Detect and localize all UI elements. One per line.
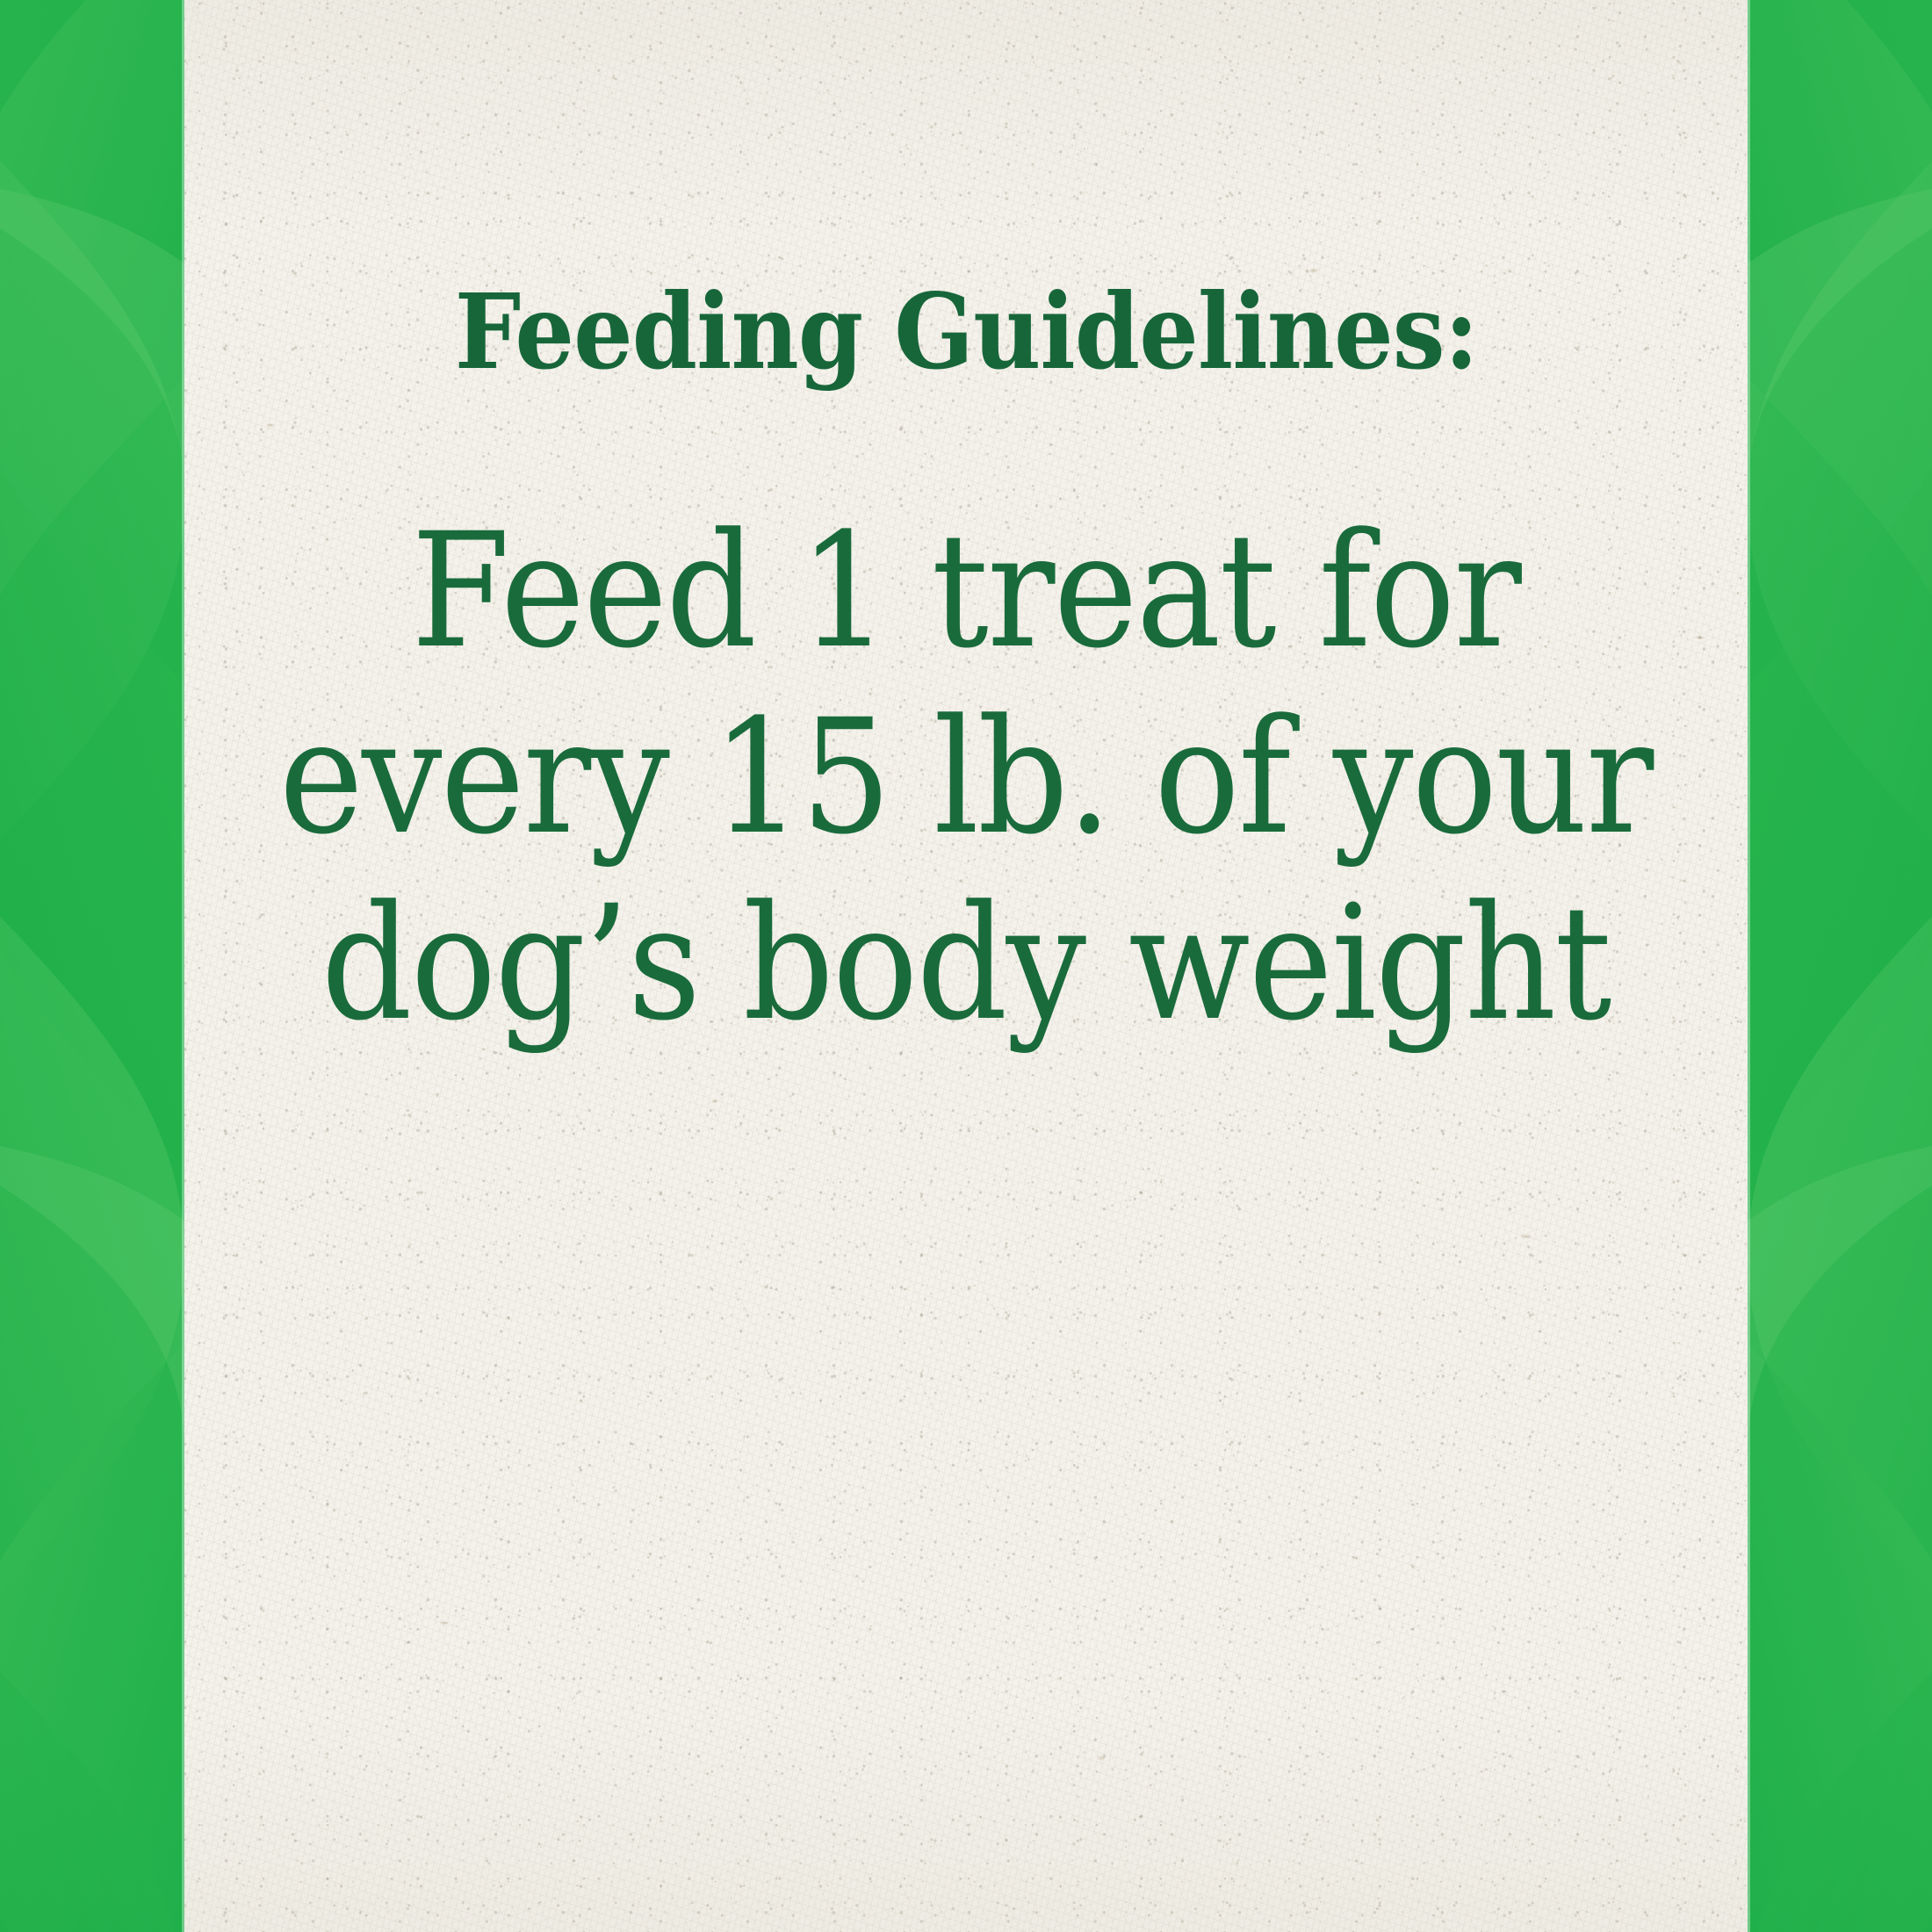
packaging-panel: Feeding Guidelines: Feed 1 treat for eve…: [0, 0, 1932, 1932]
right-panel-edge-highlight: [1748, 0, 1750, 1932]
leaf-pattern-icon: [1748, 0, 1932, 1932]
feeding-instruction-line-1: Feed 1 treat for: [279, 499, 1653, 685]
feeding-guidelines-content: Feeding Guidelines: Feed 1 treat for eve…: [184, 0, 1748, 1932]
feeding-instruction-block: Feed 1 treat for every 15 lb. of your do…: [203, 499, 1728, 1057]
feeding-guidelines-heading: Feeding Guidelines:: [454, 279, 1477, 385]
feeding-instruction-line-2: every 15 lb. of your: [279, 685, 1653, 871]
feeding-instruction-line-3: dog’s body weight: [279, 871, 1653, 1057]
leaf-pattern-icon: [0, 0, 184, 1932]
right-leaf-band: [1748, 0, 1932, 1932]
left-leaf-band: [0, 0, 184, 1932]
